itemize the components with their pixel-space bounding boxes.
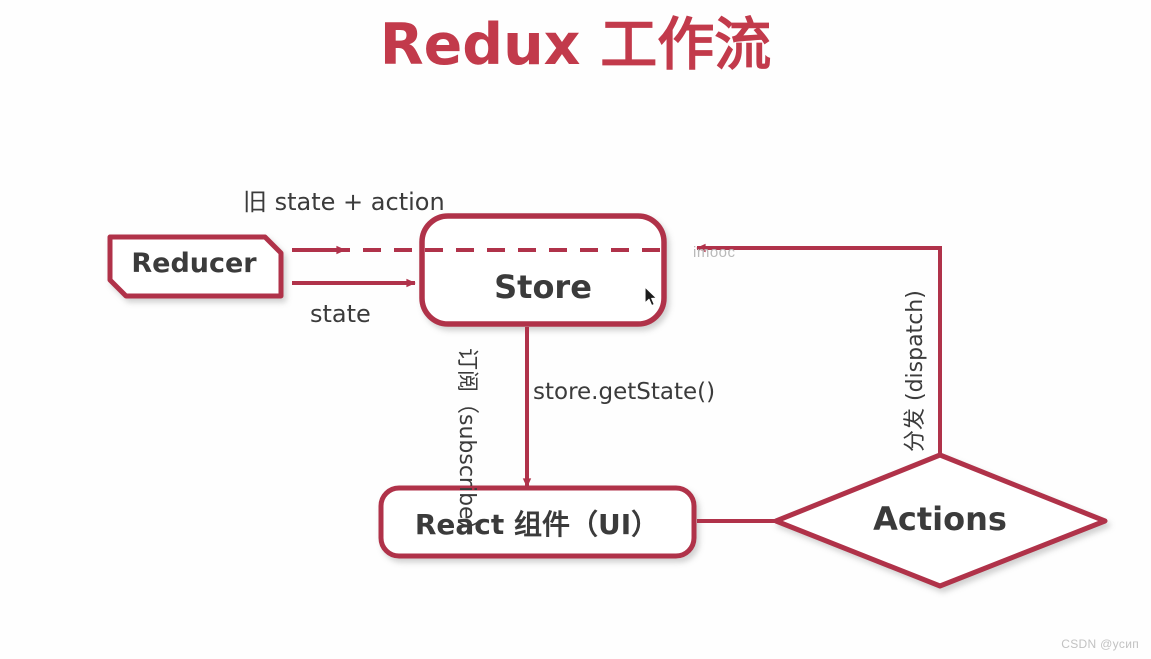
react-shape[interactable] xyxy=(381,488,694,556)
actions-shape[interactable] xyxy=(776,455,1105,586)
slide-canvas: Redux 工作流 xyxy=(0,0,1151,659)
node-actions[interactable] xyxy=(776,455,1105,586)
edge-dispatch-path xyxy=(697,248,940,455)
edge-actions-to-store-dispatch xyxy=(697,248,940,455)
reducer-shape[interactable] xyxy=(110,237,281,296)
redux-workflow-diagram xyxy=(0,0,1151,659)
store-shape[interactable] xyxy=(422,216,664,324)
node-reducer[interactable] xyxy=(110,237,281,296)
node-react-component[interactable] xyxy=(381,488,694,556)
node-store[interactable] xyxy=(422,216,664,324)
